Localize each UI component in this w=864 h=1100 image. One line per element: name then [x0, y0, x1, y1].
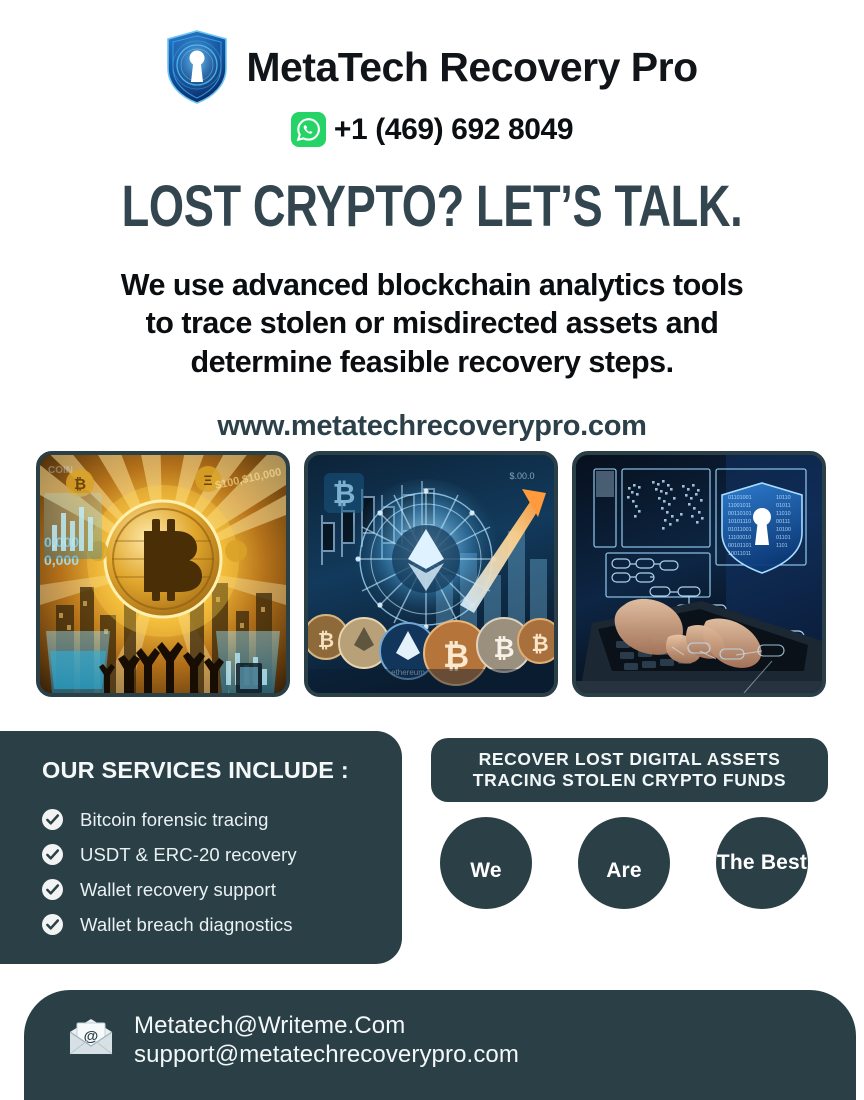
promo-banner: RECOVER LOST DIGITAL ASSETS TRACING STOL… [431, 738, 828, 802]
svg-text:01011001: 01011001 [728, 527, 752, 533]
badge-circle-are: Are [578, 817, 670, 909]
website-url[interactable]: www.metatechrecoverypro.com [0, 410, 864, 443]
svg-text:01101001: 01101001 [728, 495, 752, 501]
service-label: Wallet recovery support [80, 879, 276, 901]
svg-text:₿: ₿ [443, 638, 469, 674]
svg-text:11001011: 11001011 [728, 503, 751, 509]
phone-number[interactable]: +1 (469) 692 8049 [334, 113, 573, 147]
email-support[interactable]: support@metatechrecoverypro.com [134, 1041, 519, 1070]
check-circle-icon [42, 844, 63, 865]
list-item: USDT & ERC-20 recovery [42, 837, 402, 872]
brand-row: MetaTech Recovery Pro [166, 30, 697, 104]
badge-circles: We Are The Best [440, 817, 820, 909]
envelope-at-icon: @ [68, 1018, 114, 1056]
badge-circle-the-best: The Best [716, 817, 808, 909]
page-headline: LOST CRYPTO? LET’S TALK. [95, 178, 769, 236]
brand-title: MetaTech Recovery Pro [246, 47, 697, 88]
cyber-security-laptop-image: 0110100111001011 0011010110101110 010110… [572, 451, 826, 697]
subtext-line: to trace stolen or misdirected assets an… [42, 304, 822, 342]
svg-text:₿: ₿ [74, 476, 86, 493]
svg-text:00101101: 00101101 [728, 543, 752, 549]
shield-keyhole-icon [166, 30, 228, 104]
check-circle-icon [42, 914, 63, 935]
svg-text:01011: 01011 [776, 503, 791, 509]
svg-text:00111: 00111 [776, 519, 790, 525]
list-item: Bitcoin forensic tracing [42, 802, 402, 837]
header: MetaTech Recovery Pro +1 (469) 692 8049 [0, 30, 864, 147]
svg-text:00110101: 00110101 [728, 511, 752, 517]
footer-contact-bar: @ Metatech@Writeme.Com support@metatechr… [24, 990, 856, 1100]
svg-text:10011011: 10011011 [728, 551, 751, 557]
svg-text:₿: ₿ [318, 630, 334, 652]
email-list: Metatech@Writeme.Com support@metatechrec… [134, 1012, 519, 1070]
svg-text:1101: 1101 [776, 543, 788, 549]
services-panel: OUR SERVICES INCLUDE : Bitcoin forensic … [0, 731, 402, 964]
ethereum-chart-coins-image: ₿ $.00.0 ₿ ethereum ₿ ₿ ₿ [304, 451, 558, 697]
email-primary[interactable]: Metatech@Writeme.Com [134, 1012, 519, 1041]
bitcoin-golden-city-image: ₿ Ξ 0,0000,000 $100,$10,000 COIN [36, 451, 290, 697]
badge-circle-we: We [440, 817, 532, 909]
list-item: Wallet recovery support [42, 872, 402, 907]
svg-text:₿: ₿ [333, 478, 356, 509]
svg-text:$.00.0: $.00.0 [509, 471, 534, 481]
security-artwork: 0110100111001011 0011010110101110 010110… [576, 455, 822, 693]
svg-text:10110: 10110 [776, 495, 791, 501]
service-label: Wallet breach diagnostics [80, 914, 293, 936]
check-circle-icon [42, 879, 63, 900]
promo-line: TRACING STOLEN CRYPTO FUNDS [473, 770, 786, 791]
list-item: Wallet breach diagnostics [42, 907, 402, 942]
phone-row[interactable]: +1 (469) 692 8049 [291, 112, 573, 147]
svg-text:11100010: 11100010 [728, 535, 751, 541]
whatsapp-icon[interactable] [291, 112, 326, 147]
hero-subtext: We use advanced blockchain analytics too… [42, 266, 822, 381]
services-list: Bitcoin forensic tracing USDT & ERC-20 r… [42, 802, 402, 942]
svg-text:01101: 01101 [776, 535, 791, 541]
bitcoin-artwork: ₿ Ξ 0,0000,000 $100,$10,000 COIN [40, 455, 286, 693]
svg-text:COIN: COIN [48, 465, 73, 476]
services-title: OUR SERVICES INCLUDE : [42, 757, 402, 784]
service-label: USDT & ERC-20 recovery [80, 844, 297, 866]
subtext-line: We use advanced blockchain analytics too… [42, 266, 822, 304]
service-label: Bitcoin forensic tracing [80, 809, 269, 831]
ethereum-artwork: ₿ $.00.0 ₿ ethereum ₿ ₿ ₿ [308, 455, 554, 693]
svg-text:Ξ: Ξ [203, 472, 212, 488]
image-gallery: ₿ Ξ 0,0000,000 $100,$10,000 COIN [36, 451, 828, 697]
svg-text:10101110: 10101110 [728, 519, 751, 525]
promo-line: RECOVER LOST DIGITAL ASSETS [479, 749, 781, 770]
svg-text:₿: ₿ [493, 633, 514, 663]
svg-text:11010: 11010 [776, 511, 791, 517]
subtext-line: determine feasible recovery steps. [42, 343, 822, 381]
check-circle-icon [42, 809, 63, 830]
svg-text:10100: 10100 [776, 527, 791, 533]
svg-text:₿: ₿ [531, 633, 548, 656]
